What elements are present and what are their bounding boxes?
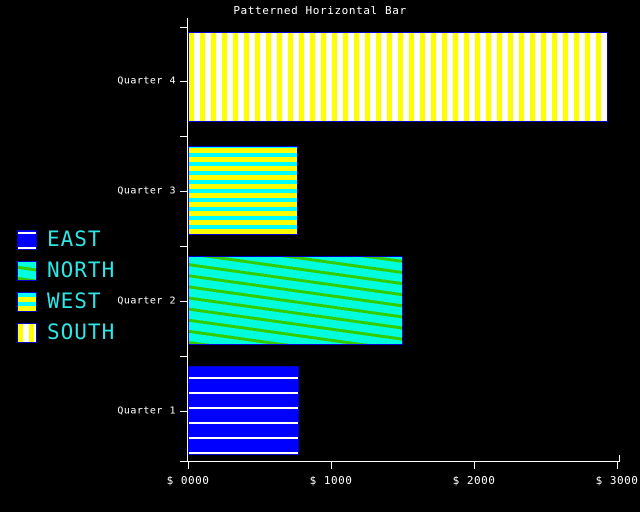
bar-quarter-4-south[interactable] [188, 32, 608, 122]
y-tick-mark-lower-2 [180, 356, 188, 357]
x-axis-end-cap [619, 455, 620, 462]
bar-quarter-1-east[interactable] [188, 366, 299, 455]
x-axis-line [187, 461, 620, 462]
x-tick-label-2000: $ 2000 [453, 474, 496, 487]
legend-item-west[interactable]: WEST [17, 286, 115, 317]
x-tick-mark-3000 [617, 461, 618, 469]
legend-swatch-west-icon [17, 292, 37, 312]
chart-canvas: Patterned Horizontal Bar $ 0000 $ 1000 $… [0, 0, 640, 512]
x-tick-label-1000: $ 1000 [310, 474, 353, 487]
y-tick-mark-quarter-3 [180, 191, 188, 192]
y-tick-mark-upper-4 [180, 27, 188, 28]
x-tick-label-3000: $ 3000 [596, 474, 639, 487]
legend-label-east: EAST [47, 229, 102, 250]
legend-label-south: SOUTH [47, 322, 115, 343]
y-tick-label-quarter-2: Quarter 2 [117, 296, 176, 307]
legend-item-north[interactable]: NORTH [17, 255, 115, 286]
y-tick-mark-lower-3 [180, 246, 188, 247]
x-tick-mark-2000 [474, 461, 475, 469]
legend-label-west: WEST [47, 291, 102, 312]
bar-quarter-2-north[interactable] [188, 256, 403, 345]
y-tick-mark-quarter-1 [180, 411, 188, 412]
legend-item-east[interactable]: EAST [17, 224, 115, 255]
legend-item-south[interactable]: SOUTH [17, 317, 115, 348]
y-tick-label-quarter-3: Quarter 3 [117, 186, 176, 197]
legend-label-north: NORTH [47, 260, 115, 281]
y-tick-mark-quarter-4 [180, 81, 188, 82]
chart-legend: EAST NORTH WEST SOUTH [17, 224, 115, 348]
x-tick-label-0: $ 0000 [167, 474, 210, 487]
legend-swatch-east-icon [17, 230, 37, 250]
x-tick-mark-0 [188, 461, 189, 469]
legend-swatch-north-icon [17, 261, 37, 281]
y-tick-mark-origin [180, 461, 188, 462]
y-tick-label-quarter-4: Quarter 4 [117, 76, 176, 87]
chart-title: Patterned Horizontal Bar [0, 4, 640, 17]
bar-quarter-3-west[interactable] [188, 146, 298, 235]
y-tick-label-quarter-1: Quarter 1 [117, 406, 176, 417]
x-tick-mark-1000 [331, 461, 332, 469]
legend-swatch-south-icon [17, 323, 37, 343]
y-tick-mark-quarter-2 [180, 301, 188, 302]
y-tick-mark-lower-4 [180, 136, 188, 137]
